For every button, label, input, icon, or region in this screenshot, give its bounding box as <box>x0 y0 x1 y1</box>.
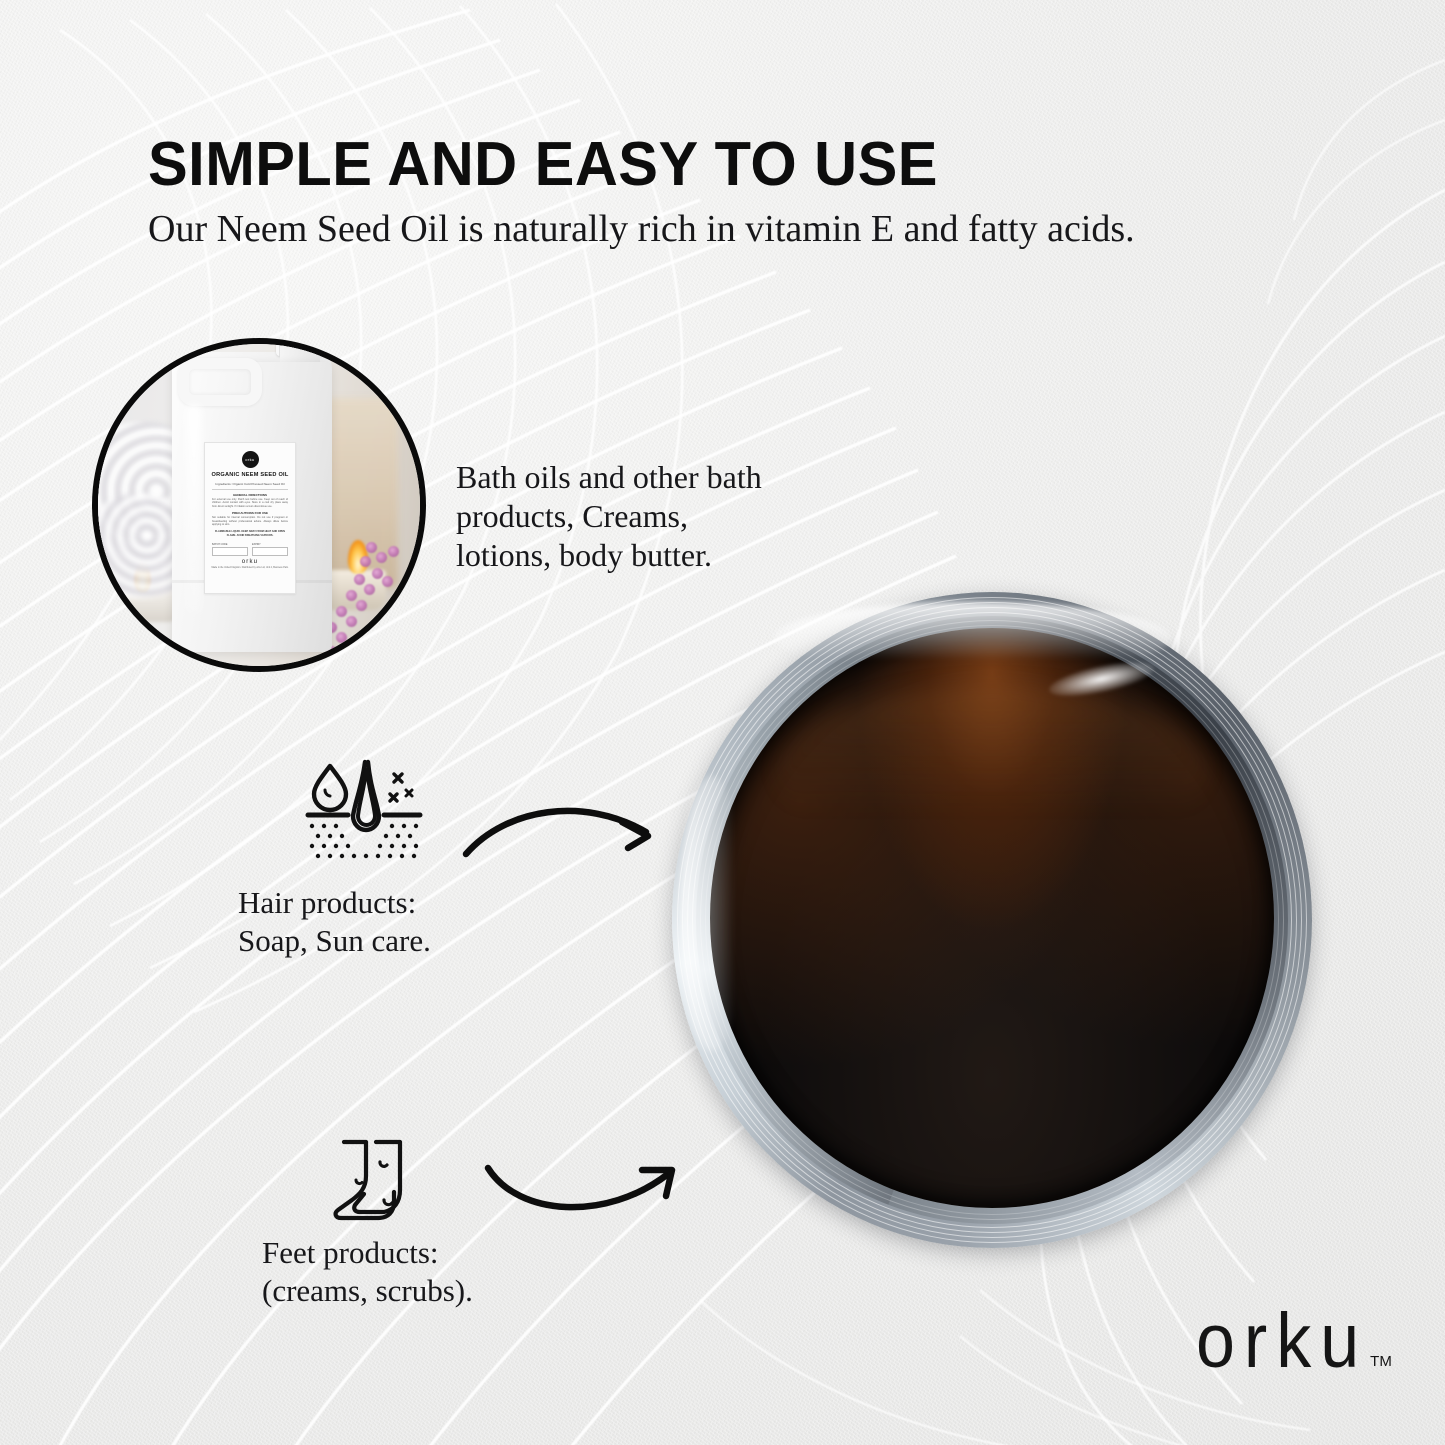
label-field-boxes: BATCH CODE EXPIRY <box>212 543 288 556</box>
label-logo-mark: orku <box>242 451 259 468</box>
page-title: SIMPLE AND EASY TO USE <box>148 134 938 196</box>
arrow-to-bowl-top <box>462 792 672 870</box>
oil-bowl <box>672 592 1312 1248</box>
label-divider <box>212 489 288 490</box>
feature-bath-line-1: Bath oils and other bath <box>456 458 762 497</box>
brand-logo: orku TM <box>1196 1312 1392 1376</box>
label-batch-label: BATCH CODE <box>212 543 248 546</box>
label-address: Made in the United Kingdom. Distributed … <box>210 567 290 570</box>
feature-feet-line-1: Feet products: <box>262 1234 473 1272</box>
label-section-1-heading: GENERAL DIRECTIONS <box>210 493 290 497</box>
label-section-2-heading: PRECAUTIONS FOR USE <box>210 511 290 515</box>
feet-icon-svg <box>330 1136 414 1228</box>
neem-oil-surface <box>710 628 1274 1208</box>
label-ingredients: Ingredients: Organic Cold Pressed Neem S… <box>210 482 290 486</box>
rim-gloss-top <box>774 602 1171 674</box>
trademark-symbol: TM <box>1370 1353 1392 1370</box>
label-section-1-body: For external use only. Patch test before… <box>210 498 290 509</box>
product-photo-circle: orku ORGANIC NEEM SEED OIL Ingredients: … <box>92 338 426 672</box>
hair-follicle-icon <box>302 756 426 868</box>
label-logo-text: orku <box>245 457 254 462</box>
arrow-top-svg <box>462 792 672 870</box>
marketing-image-canvas: SIMPLE AND EASY TO USE Our Neem Seed Oil… <box>0 0 1445 1445</box>
oil-sheen <box>778 686 1207 860</box>
page-subtitle: Our Neem Seed Oil is naturally rich in v… <box>148 208 1135 251</box>
feature-bath-line-2: products, Creams, <box>456 497 762 536</box>
hair-follicle-icon-svg <box>302 756 426 868</box>
jerrycan-handle <box>178 358 262 406</box>
product-label: orku ORGANIC NEEM SEED OIL Ingredients: … <box>204 442 296 594</box>
feature-hair-text: Hair products: Soap, Sun care. <box>238 884 431 960</box>
feature-hair-line-1: Hair products: <box>238 884 431 922</box>
feature-hair-line-2: Soap, Sun care. <box>238 922 431 960</box>
brand-wordmark: orku <box>1196 1306 1368 1377</box>
label-product-title: ORGANIC NEEM SEED OIL <box>210 472 290 478</box>
label-section-2-body: Not suitable for internal consumption. D… <box>210 516 290 527</box>
rim-gloss-left <box>680 776 744 1052</box>
label-expiry-box <box>252 547 288 556</box>
feature-bath-line-3: lotions, body butter. <box>456 536 762 575</box>
label-footer-logo: orku <box>210 559 290 565</box>
label-warning: FLAMMABLE LIQUID. KEEP AWAY FROM HEAT AN… <box>210 530 290 538</box>
feet-icon <box>330 1136 414 1228</box>
feature-feet-text: Feet products: (creams, scrubs). <box>262 1234 473 1310</box>
label-batch-box <box>212 547 248 556</box>
label-batch-field: BATCH CODE <box>212 543 248 556</box>
label-expiry-field: EXPIRY <box>252 543 288 556</box>
feature-bath-text: Bath oils and other bath products, Cream… <box>456 458 762 575</box>
arrow-to-bowl-bottom <box>484 1142 692 1218</box>
product-photo: orku ORGANIC NEEM SEED OIL Ingredients: … <box>98 344 420 666</box>
label-expiry-label: EXPIRY <box>252 543 288 546</box>
feature-feet-line-2: (creams, scrubs). <box>262 1272 473 1310</box>
arrow-bottom-svg <box>484 1142 692 1218</box>
